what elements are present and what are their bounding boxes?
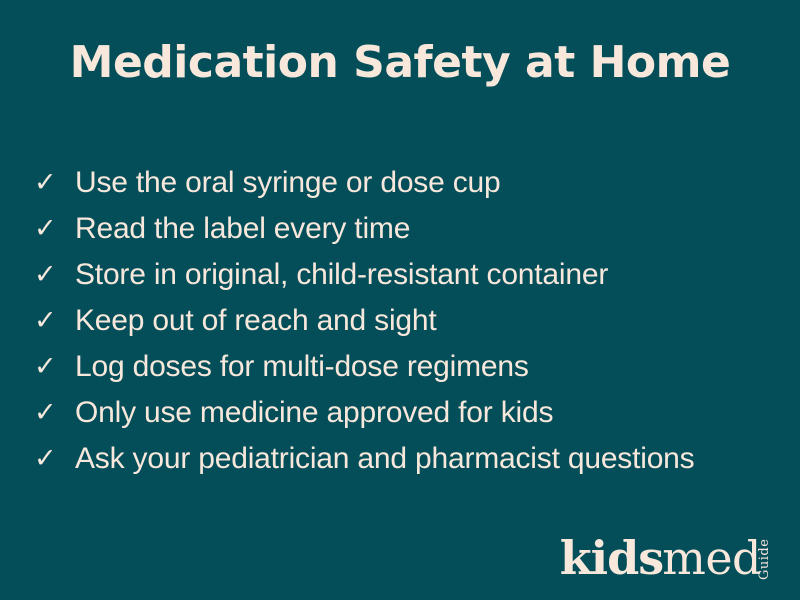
list-item: ✓ Store in original, child-resistant con… — [30, 252, 790, 298]
list-item: ✓ Log doses for multi-dose regimens — [30, 344, 790, 390]
list-item-label: Only use medicine approved for kids — [75, 390, 790, 436]
list-item-label: Use the oral syringe or dose cup — [75, 160, 790, 206]
brand-logo: kids med Guide — [560, 534, 778, 582]
list-item: ✓ Only use medicine approved for kids — [30, 390, 790, 436]
check-icon: ✓ — [30, 344, 75, 390]
list-item-label: Read the label every time — [75, 206, 790, 252]
list-item: ✓ Use the oral syringe or dose cup — [30, 160, 790, 206]
check-icon: ✓ — [30, 436, 75, 482]
brand-logo-med: med — [662, 534, 761, 582]
safety-checklist: ✓ Use the oral syringe or dose cup ✓ Rea… — [30, 160, 790, 482]
list-item: ✓ Ask your pediatrician and pharmacist q… — [30, 436, 790, 482]
list-item-label: Ask your pediatrician and pharmacist que… — [75, 436, 790, 482]
list-item-label: Keep out of reach and sight — [75, 298, 790, 344]
brand-logo-guide-wrapper: Guide — [763, 534, 778, 582]
check-icon: ✓ — [30, 390, 75, 436]
check-icon: ✓ — [30, 160, 75, 206]
brand-logo-kids: kids — [560, 534, 663, 582]
list-item-label: Log doses for multi-dose regimens — [75, 344, 790, 390]
brand-logo-guide: Guide — [758, 539, 771, 580]
list-item: ✓ Keep out of reach and sight — [30, 298, 790, 344]
page-title: Medication Safety at Home — [0, 36, 800, 90]
slide-canvas: Medication Safety at Home ✓ Use the oral… — [0, 0, 800, 600]
check-icon: ✓ — [30, 206, 75, 252]
check-icon: ✓ — [30, 252, 75, 298]
list-item-label: Store in original, child-resistant conta… — [75, 252, 790, 298]
check-icon: ✓ — [30, 298, 75, 344]
list-item: ✓ Read the label every time — [30, 206, 790, 252]
